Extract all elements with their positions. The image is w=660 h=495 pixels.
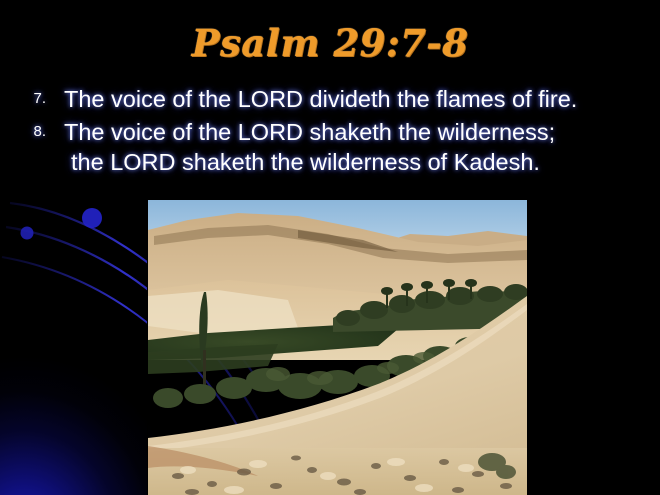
wilderness-photo [148, 200, 527, 495]
verse-body: The voice of the LORD divideth the flame… [50, 84, 660, 114]
verse-number: 7. [0, 84, 50, 114]
orbit-dot-small [21, 227, 34, 240]
verse-body: The voice of the LORD shaketh the wilder… [50, 117, 660, 177]
photo-canvas [148, 200, 527, 495]
verse-item: 7. The voice of the LORD divideth the fl… [0, 84, 660, 114]
slide-title: Psalm 29:7-8 [0, 21, 660, 65]
photo-foreground-ground [148, 448, 527, 495]
verse-number: 8. [0, 117, 50, 147]
verse-list: 7. The voice of the LORD divideth the fl… [0, 84, 660, 180]
verse-item: 8. The voice of the LORD shaketh the wil… [0, 117, 660, 177]
verse-line: The voice of the LORD divideth the flame… [64, 86, 577, 112]
presentation-slide: Psalm 29:7-8 7. The voice of the LORD di… [0, 0, 660, 495]
verse-line: The voice of the LORD shaketh the wilder… [64, 119, 555, 145]
orbit-dot-large [82, 208, 102, 228]
verse-line-continued: the LORD shaketh the wilderness of Kades… [64, 147, 660, 177]
